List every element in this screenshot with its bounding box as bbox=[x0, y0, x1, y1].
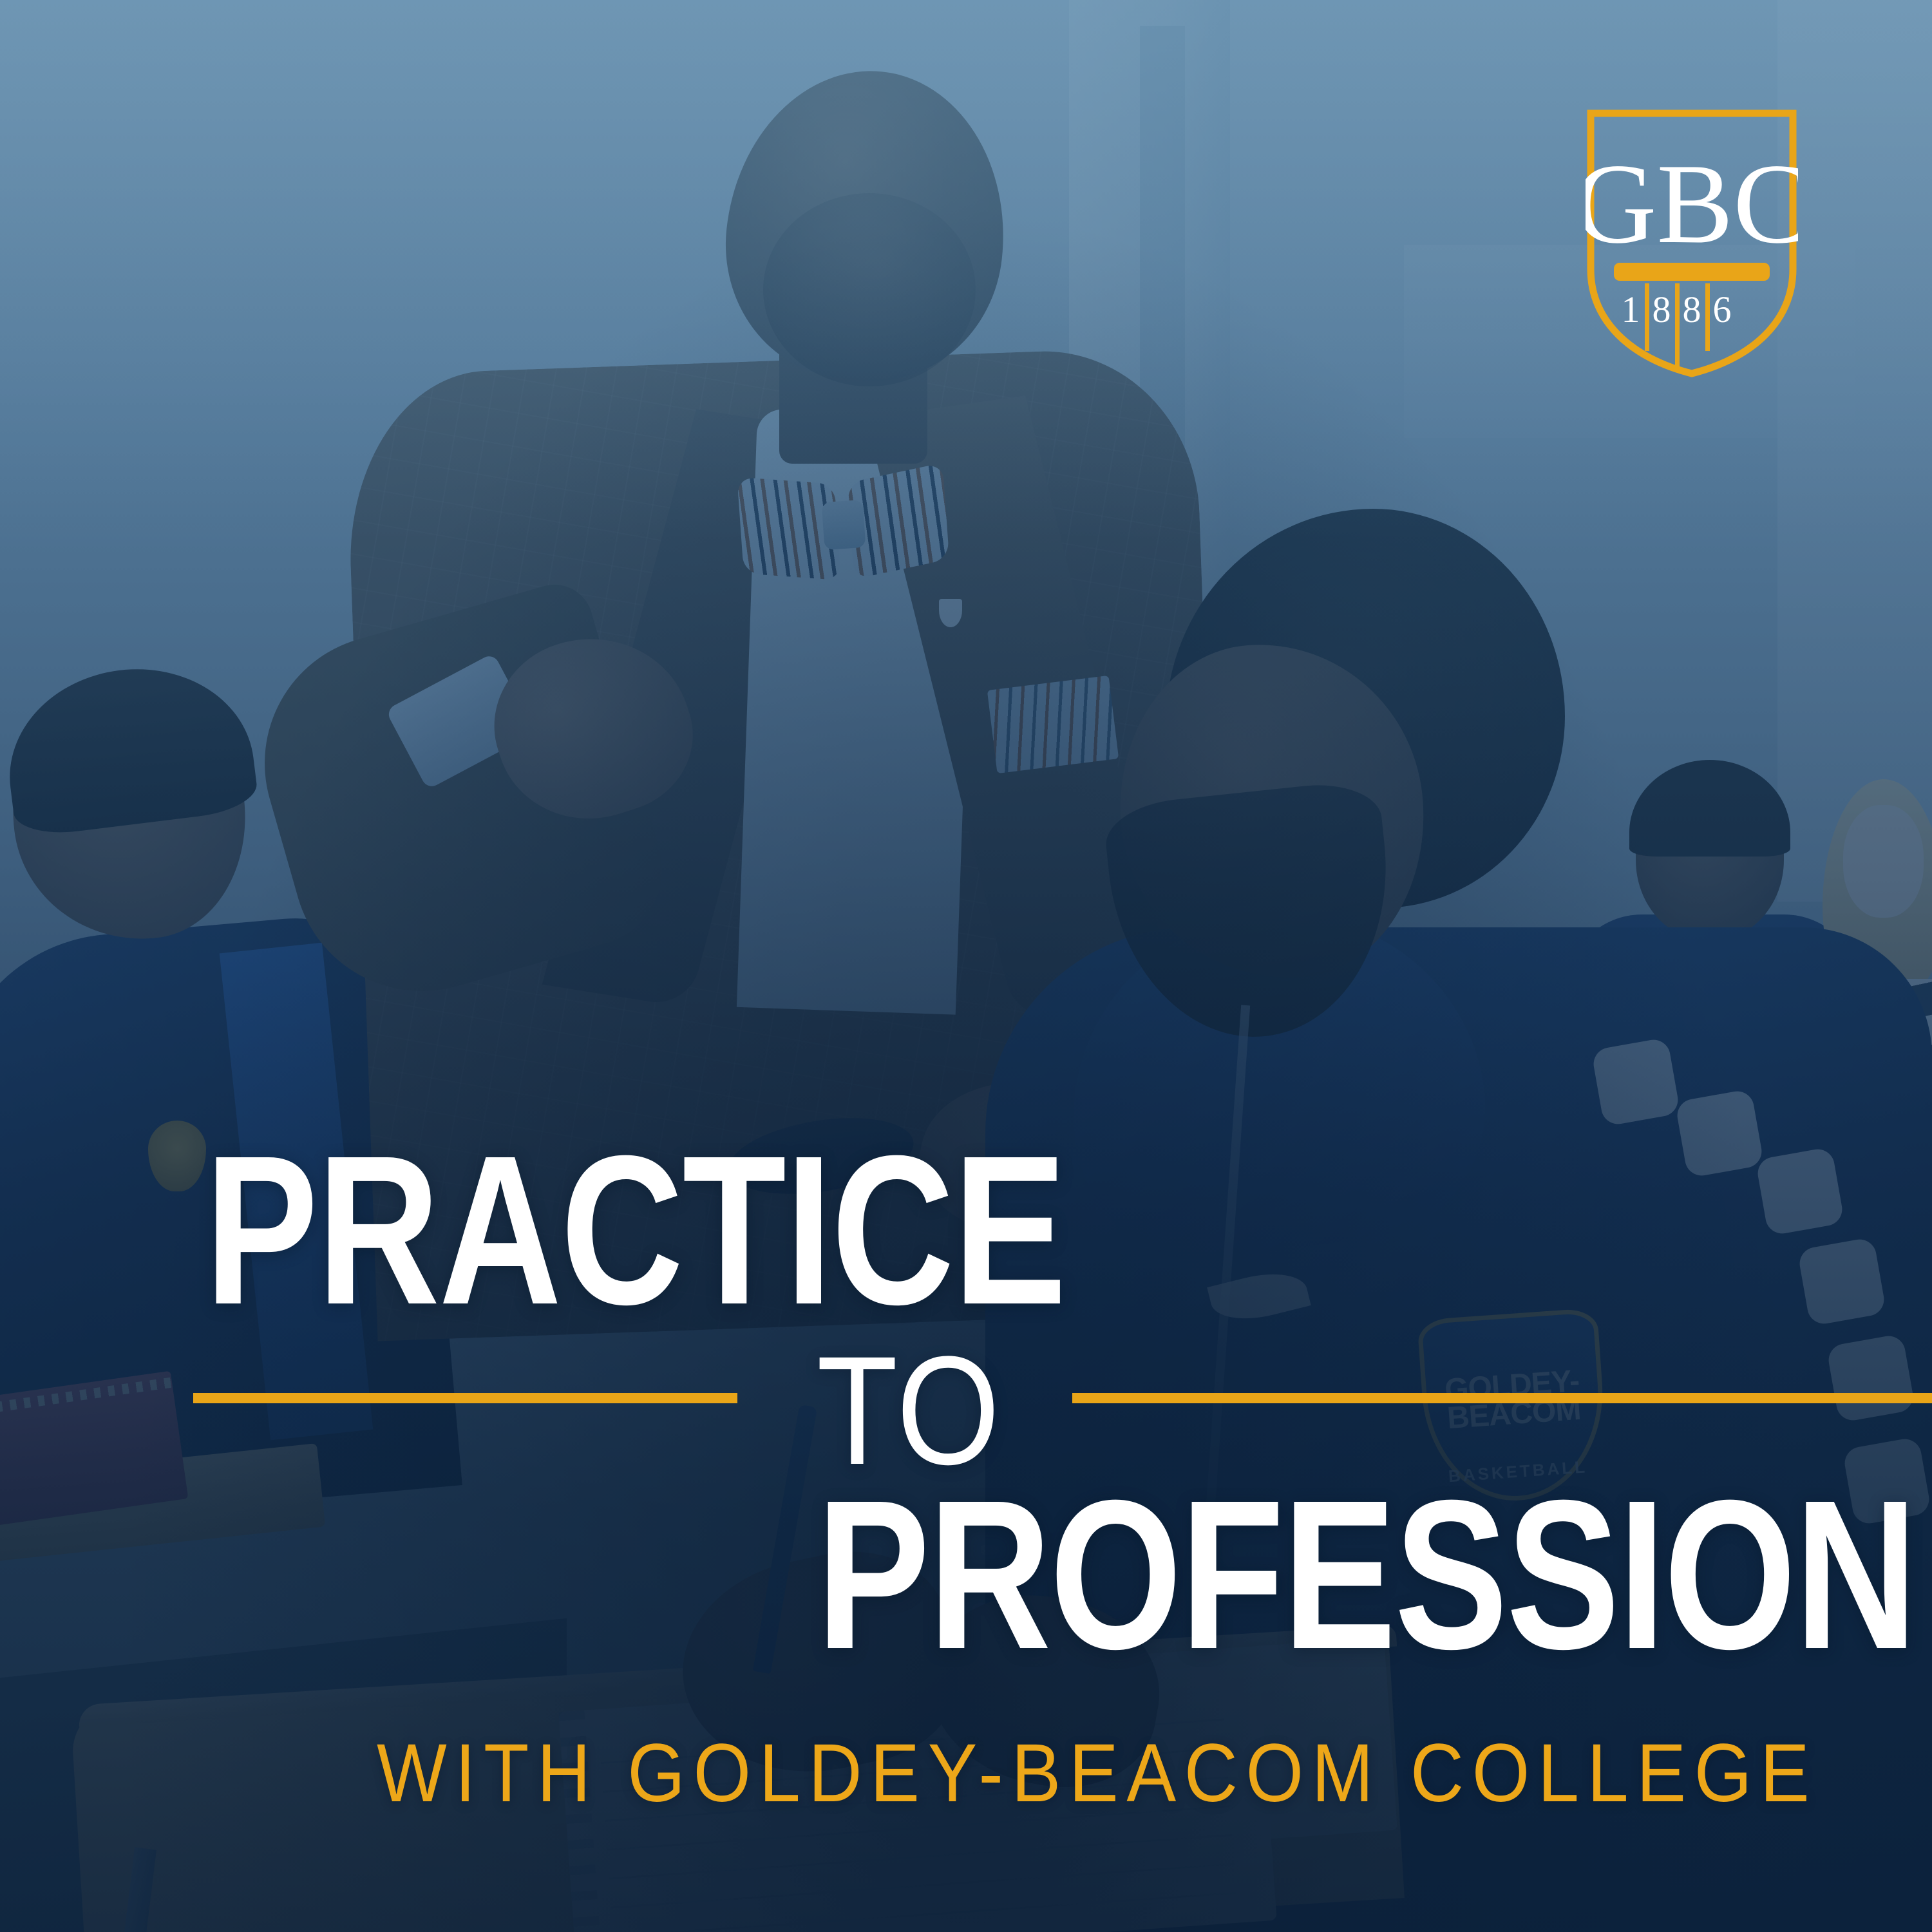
shield-year-digit-4: 6 bbox=[1713, 289, 1732, 330]
shield-monogram: GBC bbox=[1586, 140, 1798, 267]
shield-year-digit-1: 1 bbox=[1622, 289, 1640, 330]
gbc-shield-logo[interactable]: GBC 1 8 8 6 bbox=[1586, 108, 1798, 379]
poster-canvas: GOLDEY- BEACOM BASKETBALL bbox=[0, 0, 1932, 1932]
shield-tick-2 bbox=[1675, 283, 1680, 367]
shield-gold-bar bbox=[1614, 263, 1770, 281]
shield-tick-3 bbox=[1705, 283, 1710, 351]
shield-year-digit-2: 8 bbox=[1653, 289, 1671, 330]
shield-tick-1 bbox=[1645, 283, 1649, 351]
shield-year-digit-3: 8 bbox=[1683, 289, 1701, 330]
